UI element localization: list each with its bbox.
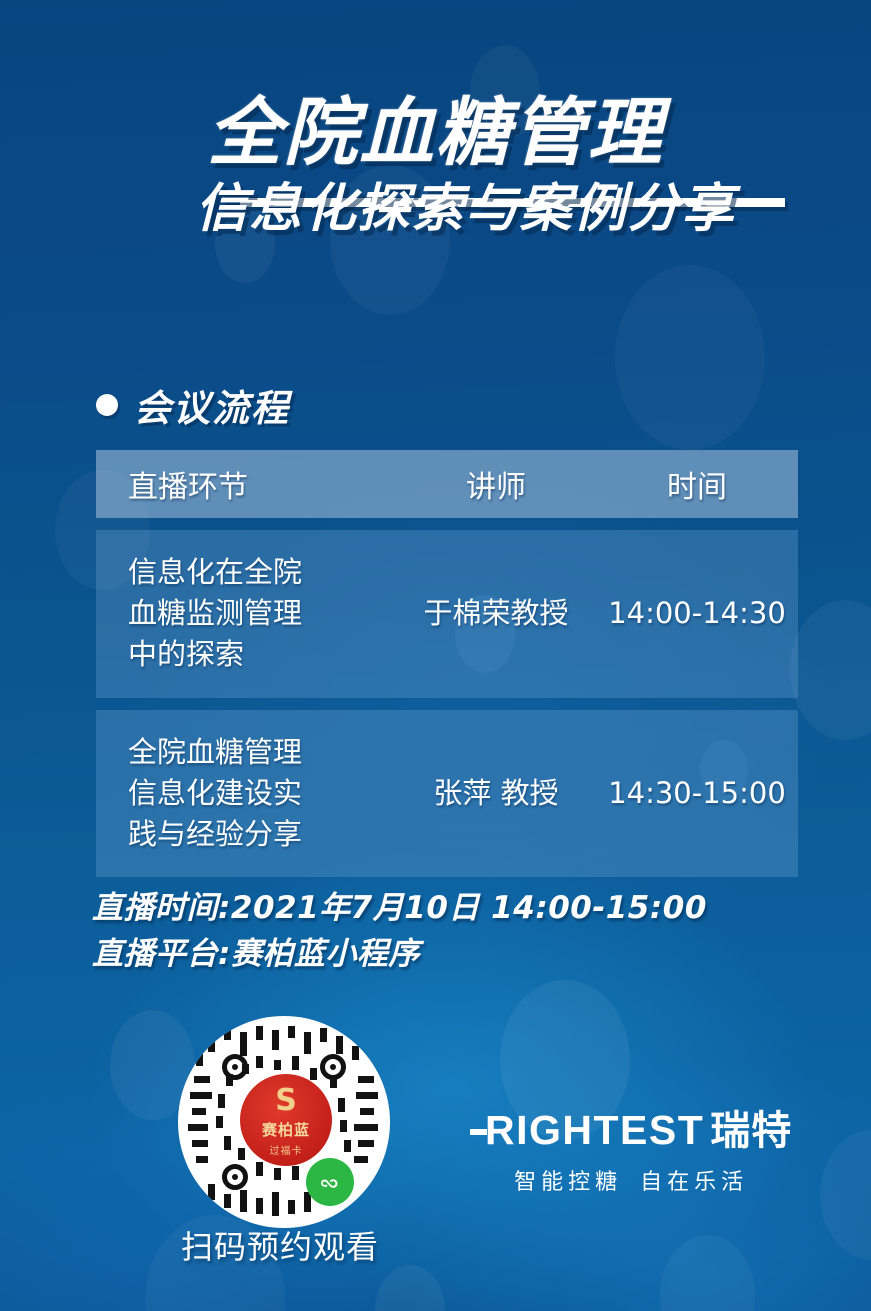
session-topic: 全院血糖管理 信息化建设实 践与经验分享 (96, 732, 396, 856)
session-speaker: 于棉荣教授 (396, 593, 596, 634)
qr-code-disc: S 赛柏蓝 过福卡 (178, 1016, 390, 1228)
schedule-table: 直播环节 讲师 时间 信息化在全院 血糖监测管理 中的探索 于棉荣教授 14:0… (96, 450, 798, 877)
session-speaker: 张萍 教授 (396, 773, 596, 814)
live-platform-line: 直播平台:赛柏蓝小程序 (92, 932, 707, 978)
poster-title-main: 全院血糖管理 (0, 96, 871, 170)
brand-logo-main: RIGHTEST 瑞特 (470, 1098, 792, 1156)
section-heading: 会议流程 (96, 378, 290, 432)
session-time: 14:00-14:30 (596, 593, 798, 634)
column-header-time: 时间 (596, 462, 798, 506)
session-topic-line: 全院血糖管理 (128, 732, 396, 773)
bokeh-circle (790, 600, 871, 740)
poster-title-sub: 信息化探索与案例分享 (0, 182, 871, 237)
brand-logo: RIGHTEST 瑞特 智能控糖自在乐活 (470, 1098, 792, 1196)
table-row: 信息化在全院 血糖监测管理 中的探索 于棉荣教授 14:00-14:30 (96, 530, 798, 698)
section-heading-label: 会议流程 (134, 378, 290, 432)
qr-finder-icon (222, 1054, 248, 1080)
session-topic-line: 血糖监测管理 (128, 593, 396, 634)
bokeh-circle (660, 1235, 755, 1311)
qr-caption: 扫码预约观看 (0, 1222, 560, 1268)
qr-center-logo: S 赛柏蓝 过福卡 (240, 1074, 332, 1166)
brand-dash-icon (470, 1129, 487, 1135)
bokeh-circle (375, 1265, 445, 1311)
qr-finder-icon (320, 1054, 346, 1080)
session-topic-line: 践与经验分享 (128, 814, 396, 855)
session-topic: 信息化在全院 血糖监测管理 中的探索 (96, 552, 396, 676)
session-topic-line: 信息化在全院 (128, 552, 396, 593)
live-time-line: 直播时间:2021年7月10日 14:00-15:00 (92, 886, 707, 932)
brand-name-cn: 瑞特 (710, 1098, 792, 1156)
session-time: 14:30-15:00 (596, 773, 798, 814)
brand-tagline-left: 智能控糖 (514, 1170, 622, 1195)
brand-tagline: 智能控糖自在乐活 (470, 1164, 792, 1196)
table-row: 全院血糖管理 信息化建设实 践与经验分享 张萍 教授 14:30-15:00 (96, 710, 798, 878)
session-topic-line: 中的探索 (128, 634, 396, 675)
column-header-speaker: 讲师 (396, 462, 596, 506)
qr-center-mark: S (275, 1086, 297, 1116)
qr-center-brand: 赛柏蓝 (262, 1119, 310, 1140)
qr-center-brand-sub: 过福卡 (270, 1142, 303, 1157)
qr-finder-icon (222, 1164, 248, 1190)
brand-tagline-right: 自在乐活 (640, 1170, 748, 1195)
bokeh-circle (615, 265, 765, 450)
live-info-block: 直播时间:2021年7月10日 14:00-15:00 直播平台:赛柏蓝小程序 (92, 886, 707, 978)
poster-title-block: 全院血糖管理 信息化探索与案例分享 (0, 96, 871, 237)
qr-code[interactable]: S 赛柏蓝 过福卡 (178, 1016, 390, 1228)
bullet-dot-icon (96, 394, 118, 416)
bokeh-circle (820, 1130, 871, 1260)
wechat-miniprogram-icon (306, 1158, 354, 1206)
table-header-row: 直播环节 讲师 时间 (96, 450, 798, 518)
column-header-topic: 直播环节 (96, 462, 396, 506)
brand-name-en: RIGHTEST (485, 1107, 704, 1154)
session-topic-line: 信息化建设实 (128, 773, 396, 814)
poster-root: 全院血糖管理 信息化探索与案例分享 会议流程 直播环节 讲师 时间 信息化在全院… (0, 0, 871, 1311)
